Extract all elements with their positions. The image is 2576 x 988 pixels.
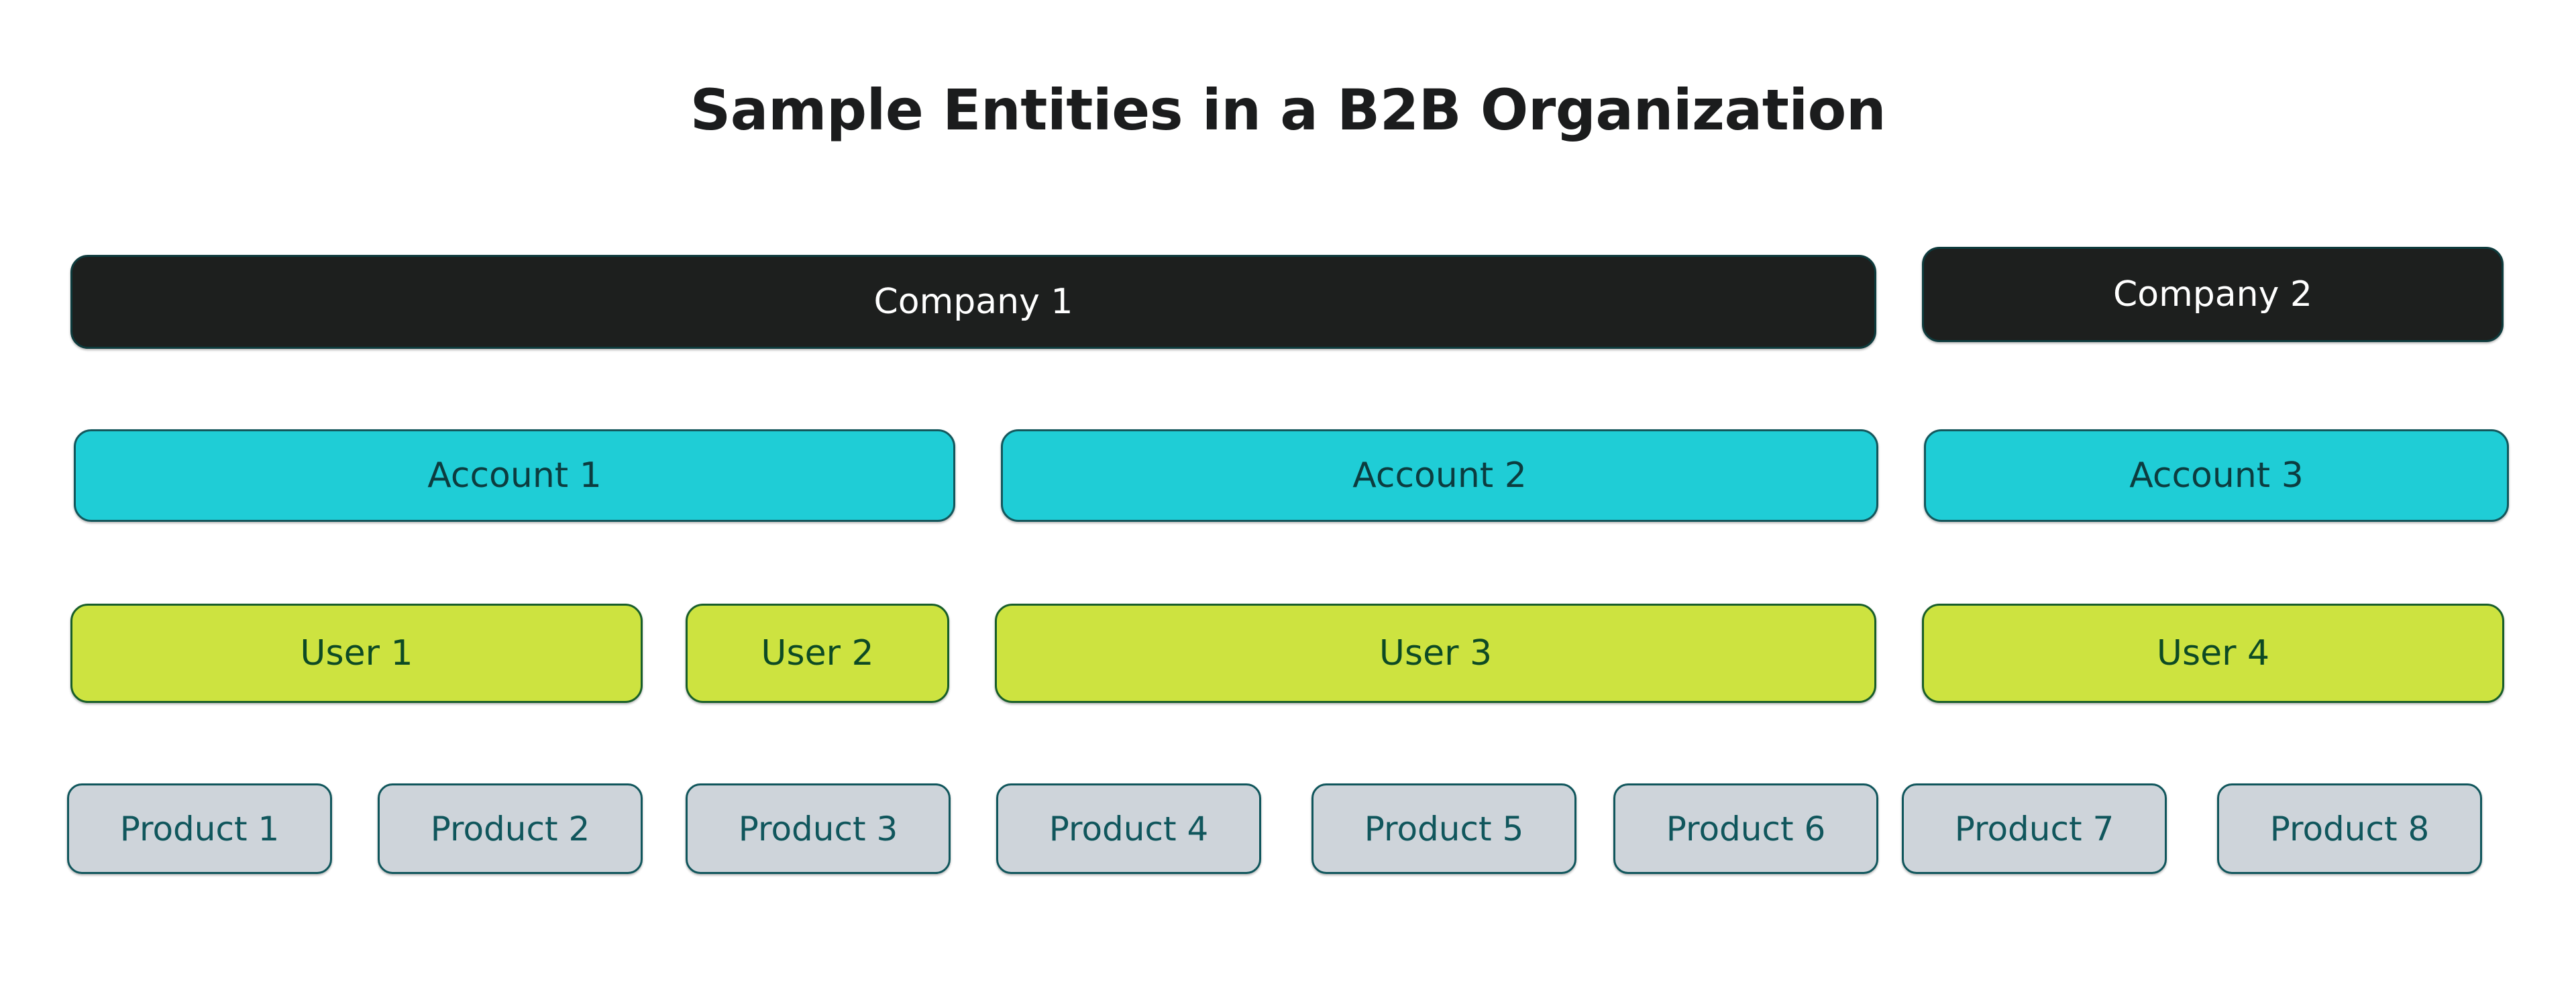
product-node-1[interactable]: Product 1 <box>67 783 332 874</box>
page-title: Sample Entities in a B2B Organization <box>0 79 2576 141</box>
diagram-canvas: Sample Entities in a B2B Organization Co… <box>0 0 2576 988</box>
user-node-3[interactable]: User 3 <box>995 604 1876 703</box>
account-node-2[interactable]: Account 2 <box>1001 429 1878 522</box>
user-node-label: User 2 <box>761 636 873 671</box>
product-node-label: Product 2 <box>431 812 590 846</box>
product-node-5[interactable]: Product 5 <box>1311 783 1576 874</box>
product-node-7[interactable]: Product 7 <box>1902 783 2167 874</box>
user-node-1[interactable]: User 1 <box>70 604 643 703</box>
account-node-label: Account 1 <box>427 458 602 493</box>
product-node-3[interactable]: Product 3 <box>686 783 951 874</box>
product-node-label: Product 4 <box>1049 812 1209 846</box>
product-node-label: Product 6 <box>1666 812 1826 846</box>
product-node-label: Product 5 <box>1364 812 1524 846</box>
product-node-label: Product 1 <box>120 812 280 846</box>
product-node-2[interactable]: Product 2 <box>378 783 643 874</box>
product-node-6[interactable]: Product 6 <box>1613 783 1878 874</box>
account-node-label: Account 3 <box>2129 458 2304 493</box>
product-node-label: Product 8 <box>2270 812 2430 846</box>
user-node-4[interactable]: User 4 <box>1922 604 2504 703</box>
user-node-label: User 4 <box>2157 636 2269 671</box>
company-node-2[interactable]: Company 2 <box>1922 247 2504 342</box>
company-node-label: Company 1 <box>874 284 1073 319</box>
product-node-8[interactable]: Product 8 <box>2217 783 2482 874</box>
account-node-3[interactable]: Account 3 <box>1924 429 2509 522</box>
company-node-label: Company 2 <box>2113 277 2312 312</box>
user-node-label: User 3 <box>1379 636 1492 671</box>
product-node-4[interactable]: Product 4 <box>996 783 1261 874</box>
company-node-1[interactable]: Company 1 <box>70 255 1876 349</box>
product-node-label: Product 7 <box>1955 812 2114 846</box>
user-node-2[interactable]: User 2 <box>686 604 949 703</box>
account-node-1[interactable]: Account 1 <box>74 429 955 522</box>
account-node-label: Account 2 <box>1352 458 1527 493</box>
user-node-label: User 1 <box>300 636 413 671</box>
product-node-label: Product 3 <box>739 812 898 846</box>
